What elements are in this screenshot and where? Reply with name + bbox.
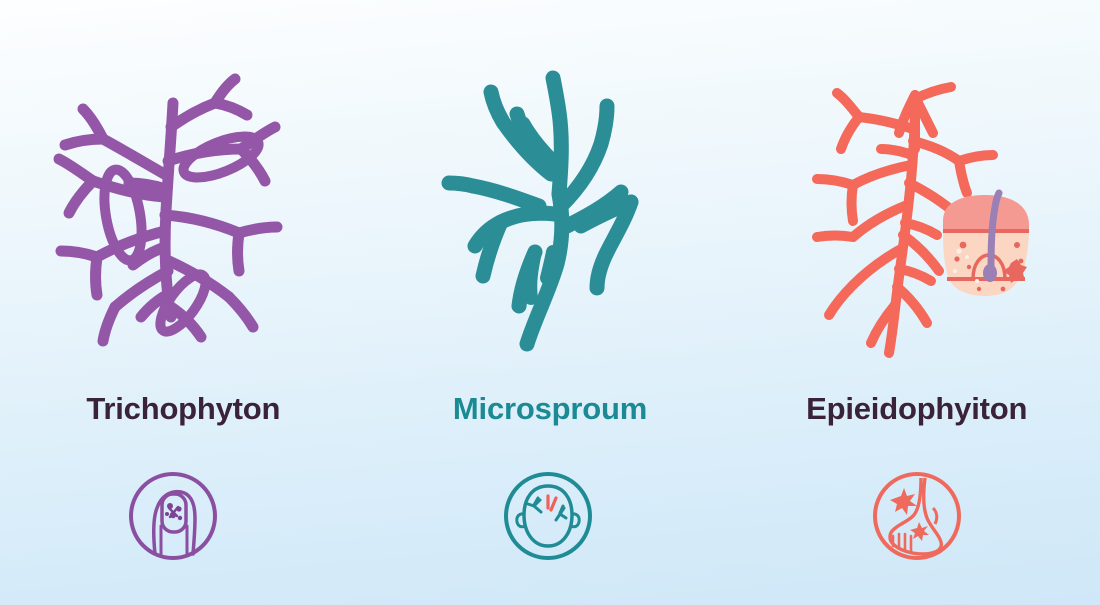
trichophyton-hyphae-illustration — [0, 60, 359, 360]
genus-label-microsproum: Microsproum — [367, 392, 734, 426]
genus-column-microsproum: Microsproum — [367, 0, 734, 605]
genus-label-trichophyton: Trichophyton — [0, 392, 367, 426]
genus-label-epieidophyiton: Epieidophyiton — [733, 392, 1100, 426]
epidermophyton-hyphae-illustration — [741, 60, 1100, 360]
microsporum-hyphae-illustration — [373, 56, 740, 356]
nail-infection-icon — [0, 468, 357, 564]
foot-infection-icon — [733, 468, 1100, 564]
infographic-slide: Trichophyton — [0, 0, 1100, 605]
scalp-infection-icon — [365, 468, 732, 564]
genus-column-trichophyton: Trichophyton — [0, 0, 367, 605]
genus-columns: Trichophyton — [0, 0, 1100, 605]
genus-column-epieidophyiton: Epieidophyiton — [733, 0, 1100, 605]
